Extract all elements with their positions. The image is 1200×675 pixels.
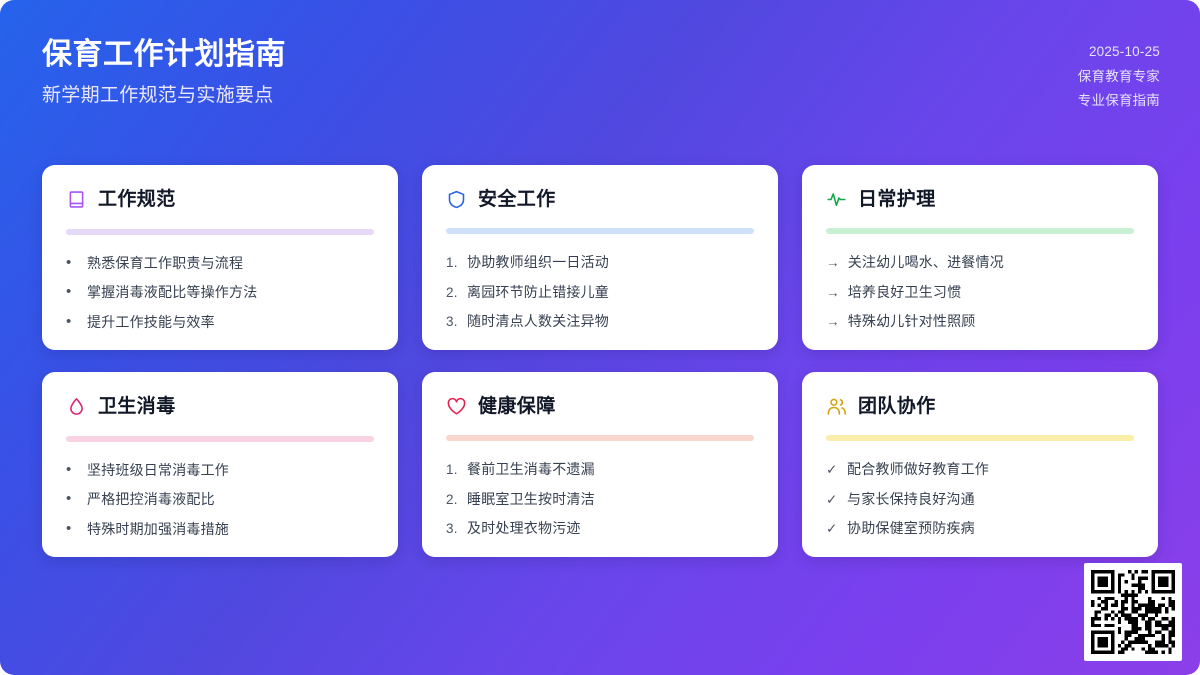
card-list: 1.协助教师组织一日活动2.离园环节防止错接儿童3.随时清点人数关注异物 xyxy=(446,252,754,332)
card-header: 安全工作 xyxy=(446,187,754,212)
list-item: •熟悉保育工作职责与流程 xyxy=(66,253,374,273)
list-item: →特殊幼儿针对性照顾 xyxy=(826,311,1134,332)
meta-date: 2025-10-25 xyxy=(1089,42,1160,62)
card-1: 工作规范•熟悉保育工作职责与流程•掌握消毒液配比等操作方法•提升工作技能与效率 xyxy=(42,165,398,350)
list-marker: ✓ xyxy=(826,490,839,510)
card-accent-bar xyxy=(826,435,1134,441)
card-title: 健康保障 xyxy=(478,397,556,416)
list-marker: • xyxy=(66,255,79,270)
card-list: ✓配合教师做好教育工作✓与家长保持良好沟通✓协助保健室预防疾病 xyxy=(826,459,1134,539)
card-list: •坚持班级日常消毒工作•严格把控消毒液配比•特殊时期加强消毒措施 xyxy=(66,460,374,539)
meta-tagline: 专业保育指南 xyxy=(1078,91,1160,111)
list-marker: • xyxy=(66,462,79,477)
list-item-text: 培养良好卫生习惯 xyxy=(848,282,1134,302)
list-marker: • xyxy=(66,521,79,536)
list-item-text: 熟悉保育工作职责与流程 xyxy=(87,253,374,273)
card-title: 工作规范 xyxy=(98,190,176,209)
list-item: •坚持班级日常消毒工作 xyxy=(66,460,374,480)
card-header: 工作规范 xyxy=(66,187,374,213)
list-item: 1.协助教师组织一日活动 xyxy=(446,252,754,273)
list-marker: ✓ xyxy=(826,460,839,480)
card-accent-bar xyxy=(446,228,754,234)
card-title: 安全工作 xyxy=(478,190,556,209)
page-subtitle: 新学期工作规范与实施要点 xyxy=(42,84,286,109)
list-item-text: 餐前卫生消毒不遗漏 xyxy=(467,459,754,479)
list-item-text: 坚持班级日常消毒工作 xyxy=(87,460,374,480)
card-list: →关注幼儿喝水、进餐情况→培养良好卫生习惯→特殊幼儿针对性照顾 xyxy=(826,252,1134,332)
list-marker: • xyxy=(66,314,79,329)
list-marker: → xyxy=(826,312,840,332)
slide-header: 保育工作计划指南 新学期工作规范与实施要点 2025-10-25 保育教育专家 … xyxy=(0,0,1200,150)
list-item: 1.餐前卫生消毒不遗漏 xyxy=(446,459,754,480)
book-icon xyxy=(66,189,87,210)
list-item: •掌握消毒液配比等操作方法 xyxy=(66,282,374,302)
list-item-text: 特殊时期加强消毒措施 xyxy=(87,519,374,539)
meta-author: 保育教育专家 xyxy=(1078,67,1160,87)
list-marker: 2. xyxy=(446,490,459,510)
card-grid: 工作规范•熟悉保育工作职责与流程•掌握消毒液配比等操作方法•提升工作技能与效率安… xyxy=(42,165,1158,557)
card-2: 安全工作1.协助教师组织一日活动2.离园环节防止错接儿童3.随时清点人数关注异物 xyxy=(422,165,778,350)
list-item: ✓与家长保持良好沟通 xyxy=(826,489,1134,510)
card-header: 团队协作 xyxy=(826,394,1134,419)
list-item: →关注幼儿喝水、进餐情况 xyxy=(826,252,1134,273)
card-accent-bar xyxy=(66,229,374,235)
card-title: 卫生消毒 xyxy=(98,397,176,416)
card-header: 日常护理 xyxy=(826,187,1134,212)
list-marker: • xyxy=(66,284,79,299)
card-accent-bar xyxy=(446,435,754,441)
card-list: 1.餐前卫生消毒不遗漏2.睡眠室卫生按时清洁3.及时处理衣物污迹 xyxy=(446,459,754,539)
slide-root: 保育工作计划指南 新学期工作规范与实施要点 2025-10-25 保育教育专家 … xyxy=(0,0,1200,675)
shield-icon xyxy=(446,189,467,210)
title-block: 保育工作计划指南 新学期工作规范与实施要点 xyxy=(42,36,286,108)
list-item-text: 随时清点人数关注异物 xyxy=(467,311,754,331)
activity-icon xyxy=(826,189,847,210)
list-item: ✓配合教师做好教育工作 xyxy=(826,459,1134,480)
list-item: ✓协助保健室预防疾病 xyxy=(826,518,1134,539)
card-3: 日常护理→关注幼儿喝水、进餐情况→培养良好卫生习惯→特殊幼儿针对性照顾 xyxy=(802,165,1158,350)
list-marker: ✓ xyxy=(826,519,839,539)
list-item-text: 关注幼儿喝水、进餐情况 xyxy=(848,252,1134,272)
list-item: 2.离园环节防止错接儿童 xyxy=(446,282,754,303)
list-item-text: 与家长保持良好沟通 xyxy=(847,489,1134,509)
list-marker: 1. xyxy=(446,253,459,273)
list-item-text: 睡眠室卫生按时清洁 xyxy=(467,489,754,509)
card-title: 团队协作 xyxy=(858,397,936,416)
card-4: 卫生消毒•坚持班级日常消毒工作•严格把控消毒液配比•特殊时期加强消毒措施 xyxy=(42,372,398,557)
card-6: 团队协作✓配合教师做好教育工作✓与家长保持良好沟通✓协助保健室预防疾病 xyxy=(802,372,1158,557)
heart-icon xyxy=(446,396,467,417)
list-item-text: 及时处理衣物污迹 xyxy=(467,518,754,538)
card-accent-bar xyxy=(66,436,374,442)
users-icon xyxy=(826,396,847,417)
qr-code-image xyxy=(1091,570,1175,654)
list-item-text: 离园环节防止错接儿童 xyxy=(467,282,754,302)
list-item: →培养良好卫生习惯 xyxy=(826,282,1134,303)
list-marker: → xyxy=(826,283,840,303)
card-accent-bar xyxy=(826,228,1134,234)
list-marker: → xyxy=(826,253,840,273)
list-item-text: 严格把控消毒液配比 xyxy=(87,489,374,509)
list-item-text: 提升工作技能与效率 xyxy=(87,312,374,332)
card-5: 健康保障1.餐前卫生消毒不遗漏2.睡眠室卫生按时清洁3.及时处理衣物污迹 xyxy=(422,372,778,557)
list-item-text: 协助教师组织一日活动 xyxy=(467,252,754,272)
card-title: 日常护理 xyxy=(858,190,936,209)
list-item: •提升工作技能与效率 xyxy=(66,312,374,332)
list-item: 3.及时处理衣物污迹 xyxy=(446,518,754,539)
header-meta: 2025-10-25 保育教育专家 专业保育指南 xyxy=(1078,36,1160,111)
card-list: •熟悉保育工作职责与流程•掌握消毒液配比等操作方法•提升工作技能与效率 xyxy=(66,253,374,332)
qr-code[interactable] xyxy=(1084,563,1182,661)
list-item-text: 配合教师做好教育工作 xyxy=(847,459,1134,479)
list-item-text: 特殊幼儿针对性照顾 xyxy=(848,311,1134,331)
list-marker: 3. xyxy=(446,519,459,539)
list-marker: • xyxy=(66,491,79,506)
list-item: 2.睡眠室卫生按时清洁 xyxy=(446,489,754,510)
list-item-text: 协助保健室预防疾病 xyxy=(847,518,1134,538)
list-item-text: 掌握消毒液配比等操作方法 xyxy=(87,282,374,302)
droplet-icon xyxy=(66,396,87,417)
list-marker: 2. xyxy=(446,283,459,303)
card-header: 健康保障 xyxy=(446,394,754,419)
card-header: 卫生消毒 xyxy=(66,394,374,420)
list-marker: 1. xyxy=(446,460,459,480)
list-marker: 3. xyxy=(446,312,459,332)
page-title: 保育工作计划指南 xyxy=(42,36,286,74)
list-item: •严格把控消毒液配比 xyxy=(66,489,374,509)
list-item: •特殊时期加强消毒措施 xyxy=(66,519,374,539)
list-item: 3.随时清点人数关注异物 xyxy=(446,311,754,332)
